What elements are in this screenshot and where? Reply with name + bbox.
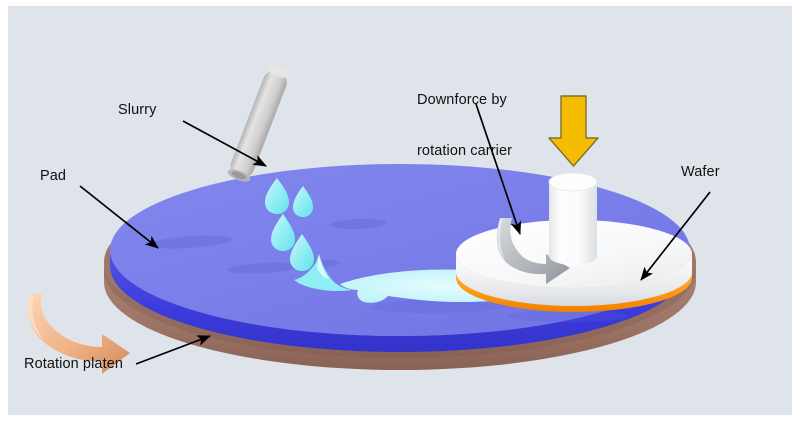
label-downforce-line2: rotation carrier: [417, 143, 512, 160]
diagram-area: Slurry Pad Rotation platen Downforce by …: [8, 6, 792, 415]
label-pad: Pad: [40, 168, 66, 185]
label-wafer: Wafer: [681, 164, 720, 181]
cylinder-top-cap: [549, 173, 597, 191]
label-slurry: Slurry: [118, 102, 156, 119]
label-downforce: Downforce by rotation carrier: [417, 58, 512, 194]
cmp-illustration: [8, 6, 792, 415]
slurry-dispense-nozzle: [226, 63, 291, 184]
label-rotation-platen: Rotation platen: [24, 356, 123, 373]
label-downforce-line1: Downforce by: [417, 92, 512, 109]
nozzle-body: [227, 68, 290, 181]
carrier-spindle-cylinder: [549, 173, 597, 265]
cylinder-body: [549, 182, 597, 265]
figure-canvas: Slurry Pad Rotation platen Downforce by …: [0, 0, 800, 421]
downforce-arrow: [549, 96, 598, 166]
downforce-arrow-shape: [549, 96, 598, 166]
leader-rotation-platen: [136, 336, 210, 364]
